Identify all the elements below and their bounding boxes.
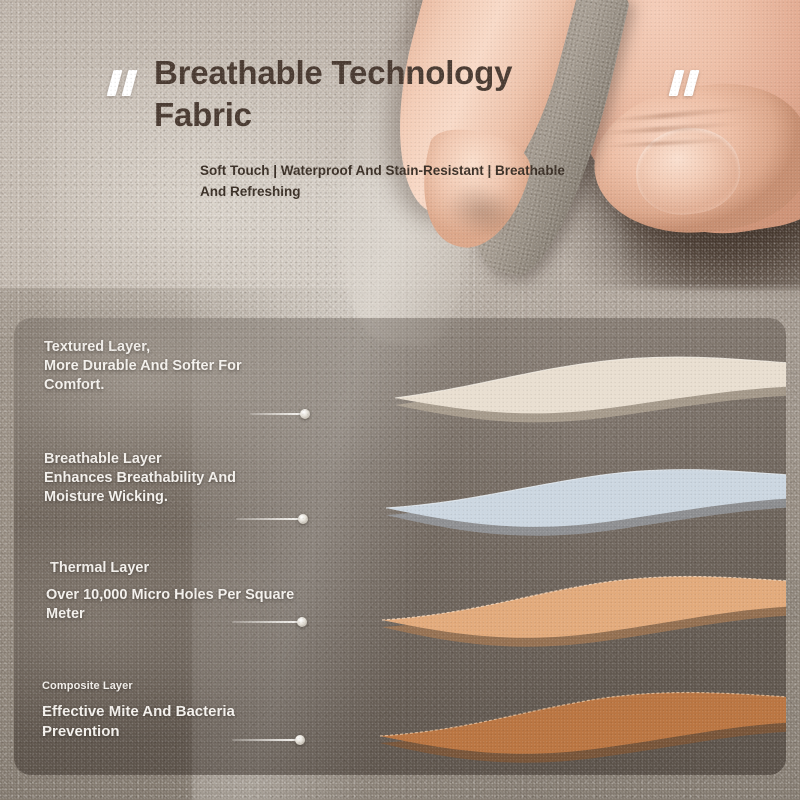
page-title: Breathable Technology Fabric xyxy=(154,52,584,136)
layer-label-1-title: Textured Layer, xyxy=(44,338,254,357)
layer-label-1-body: More Durable And Softer For Comfort. xyxy=(44,357,254,396)
layer-swatch-1 xyxy=(395,357,786,422)
layer-label-4: Composite Layer Effective Mite And Bacte… xyxy=(42,679,272,742)
layer-label-2: Breathable Layer Enhances Breathability … xyxy=(44,450,259,508)
quote-close-icon xyxy=(670,70,708,98)
connector-line-4-stroke xyxy=(232,739,296,741)
connector-dot-4 xyxy=(295,735,305,745)
layer-label-3-title: Thermal Layer xyxy=(50,559,295,578)
layer-label-4-title: Composite Layer xyxy=(42,679,272,693)
connector-line-2-stroke xyxy=(236,518,299,520)
layer-label-3-body: Over 10,000 Micro Holes Per Square Meter xyxy=(46,586,295,625)
connector-line-1 xyxy=(250,413,310,415)
layer-swatch-3 xyxy=(382,577,786,647)
connector-line-3 xyxy=(232,621,307,623)
layer-swatch-4 xyxy=(380,693,786,763)
layer-swatch-2 xyxy=(386,470,786,536)
quote-open-icon xyxy=(108,70,146,98)
layer-label-3: Thermal Layer Over 10,000 Micro Holes Pe… xyxy=(50,559,295,625)
connector-dot-3 xyxy=(297,617,307,627)
connector-line-4 xyxy=(232,739,305,741)
connector-dot-2 xyxy=(298,514,308,524)
layer-label-2-body: Enhances Breathability And Moisture Wick… xyxy=(44,469,259,508)
connector-line-1-stroke xyxy=(250,413,301,415)
layer-label-2-title: Breathable Layer xyxy=(44,450,259,469)
connector-line-2 xyxy=(236,518,308,520)
layer-label-4-body: Effective Mite And Bacteria Prevention xyxy=(42,702,272,742)
connector-line-3-stroke xyxy=(232,621,298,623)
page-subtitle: Soft Touch | Waterproof And Stain-Resist… xyxy=(200,161,594,202)
product-infographic: Breathable Technology Fabric Soft Touch … xyxy=(0,0,800,800)
connector-dot-1 xyxy=(300,409,310,419)
layer-label-1: Textured Layer, More Durable And Softer … xyxy=(44,338,254,396)
